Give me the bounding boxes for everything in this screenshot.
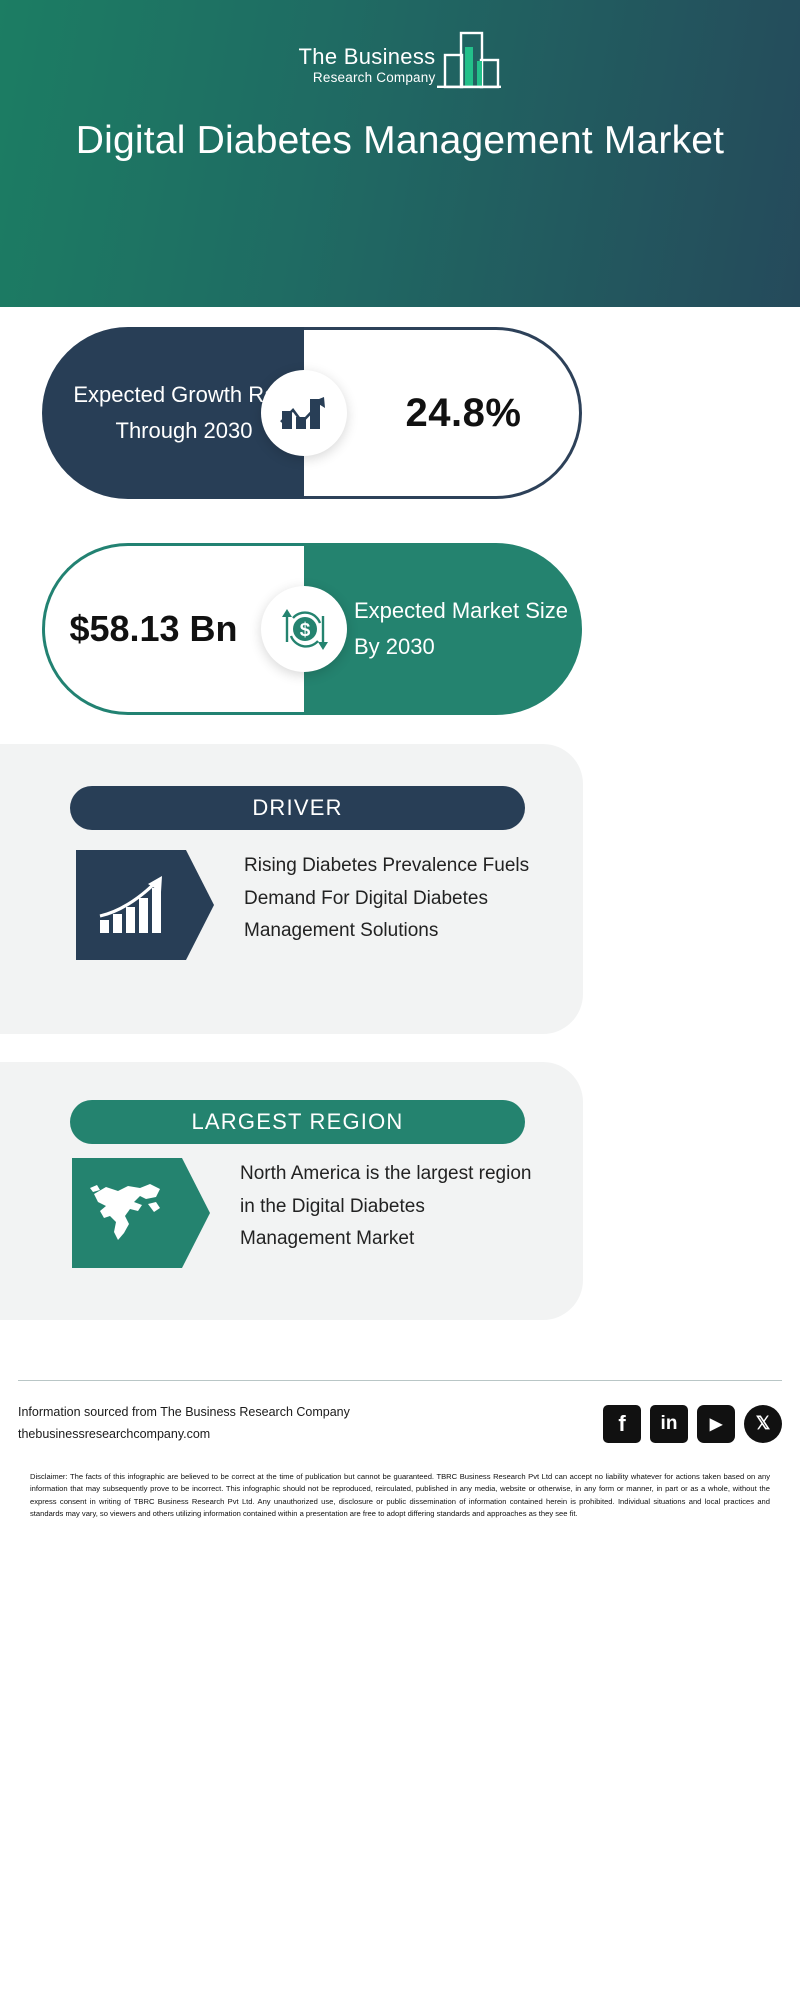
largest-region-pill: LARGEST REGION (70, 1100, 525, 1144)
disclaimer-text: Disclaimer: The facts of this infographi… (30, 1471, 770, 1520)
stat-value-growth-rate: 24.8% (406, 391, 522, 436)
infographic-page: The Business Research Company Digital Di… (0, 0, 800, 2000)
footer-bar: Information sourced from The Business Re… (0, 1402, 800, 1446)
rising-bar-chart-arrow-badge (76, 850, 186, 960)
footer-source: Information sourced from The Business Re… (18, 1402, 350, 1446)
x-twitter-icon[interactable]: 𝕏 (744, 1405, 782, 1443)
footer-divider (18, 1380, 782, 1381)
dollar-circulation-icon: $ (277, 602, 331, 656)
footer-source-line-1: Information sourced from The Business Re… (18, 1402, 350, 1424)
logo-line-2: Research Company (313, 68, 436, 88)
page-title: Digital Diabetes Management Market (70, 116, 730, 166)
footer-source-line-2[interactable]: thebusinessresearchcompany.com (18, 1424, 350, 1446)
driver-row: Rising Diabetes Prevalence Fuels Demand … (76, 850, 544, 960)
youtube-icon[interactable]: ▶ (697, 1405, 735, 1443)
logo-wordmark: The Business Research Company (299, 45, 436, 90)
bar-chart-logo-icon (437, 30, 501, 92)
largest-region-row: North America is the largest region in t… (72, 1158, 540, 1268)
company-logo: The Business Research Company (250, 18, 550, 90)
logo-line-1: The Business (299, 45, 436, 68)
svg-text:$: $ (300, 620, 311, 641)
stat-card-growth-rate: Expected Growth Rate Through 2030 24.8% (42, 327, 582, 499)
north-america-map-icon (84, 1178, 170, 1248)
growth-chart-arrow-icon (278, 389, 330, 437)
dollar-circulation-badge: $ (261, 586, 347, 672)
driver-panel: DRIVER Rising Diabetes Prevalence Fuels … (0, 744, 583, 1034)
social-links: f in ▶ 𝕏 (603, 1405, 782, 1443)
driver-text: Rising Diabetes Prevalence Fuels Demand … (244, 850, 544, 948)
growth-chart-arrow-badge (261, 370, 347, 456)
linkedin-icon[interactable]: in (650, 1405, 688, 1443)
north-america-map-badge (72, 1158, 182, 1268)
largest-region-text: North America is the largest region in t… (240, 1158, 540, 1256)
driver-pill: DRIVER (70, 786, 525, 830)
stat-value-market-size: $58.13 Bn (69, 606, 237, 652)
largest-region-panel: LARGEST REGION North America is the larg… (0, 1062, 583, 1320)
facebook-icon[interactable]: f (603, 1405, 641, 1443)
rising-bar-chart-arrow-icon (94, 872, 168, 938)
stat-card-market-size: $58.13 Bn Expected Market Size By 2030 $ (42, 543, 582, 715)
header-banner: The Business Research Company Digital Di… (0, 0, 800, 307)
